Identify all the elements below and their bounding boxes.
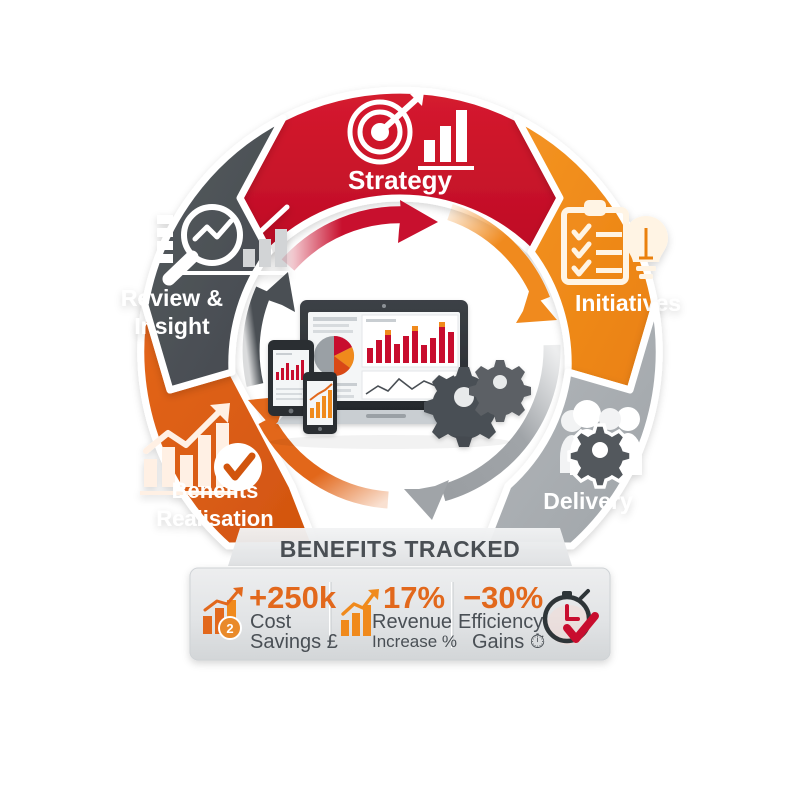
metrics-panel: 2 +250k Cost Savings £ 17% Revenue Incre… xyxy=(190,568,610,660)
pie-chart xyxy=(314,336,354,376)
devices-dashboard-illustration xyxy=(268,300,531,449)
smartphone-device xyxy=(303,372,337,434)
segment-delivery-label: Delivery xyxy=(543,488,633,514)
benefits-tracked-banner: BENEFITS TRACKED xyxy=(228,528,572,566)
cycle-infographic: Strategy Initiatives xyxy=(0,0,800,800)
segment-review-label-line2: Insight xyxy=(134,313,210,339)
coin-label: 2 xyxy=(226,621,233,636)
metric-efficiency-value: −30% xyxy=(463,580,543,615)
metric-cost-savings-line2: Savings £ xyxy=(250,631,338,653)
metric-revenue-value: 17% xyxy=(383,580,445,615)
segment-benefits-label-line2: Realisation xyxy=(156,506,273,531)
metric-cost-savings-value: +250k xyxy=(249,580,337,615)
segment-benefits-label-line1: Benefits xyxy=(172,478,259,503)
metric-efficiency-line2: Gains ⏱ xyxy=(472,631,545,653)
benefits-tracked-title: BENEFITS TRACKED xyxy=(280,536,521,562)
segment-strategy-label: Strategy xyxy=(348,165,453,195)
infographic-canvas: Strategy Initiatives xyxy=(0,0,800,800)
metric-revenue-line2: Increase % xyxy=(372,632,457,651)
segment-review-label-line1: Review & xyxy=(121,285,223,311)
segment-initiatives-label: Initiatives xyxy=(575,290,681,316)
metric-cost-savings-line1: Cost xyxy=(250,611,292,633)
people-gear-icon xyxy=(560,400,642,487)
metric-revenue-line1: Revenue xyxy=(372,611,452,633)
metric-efficiency-line1: Efficiency xyxy=(458,611,543,633)
